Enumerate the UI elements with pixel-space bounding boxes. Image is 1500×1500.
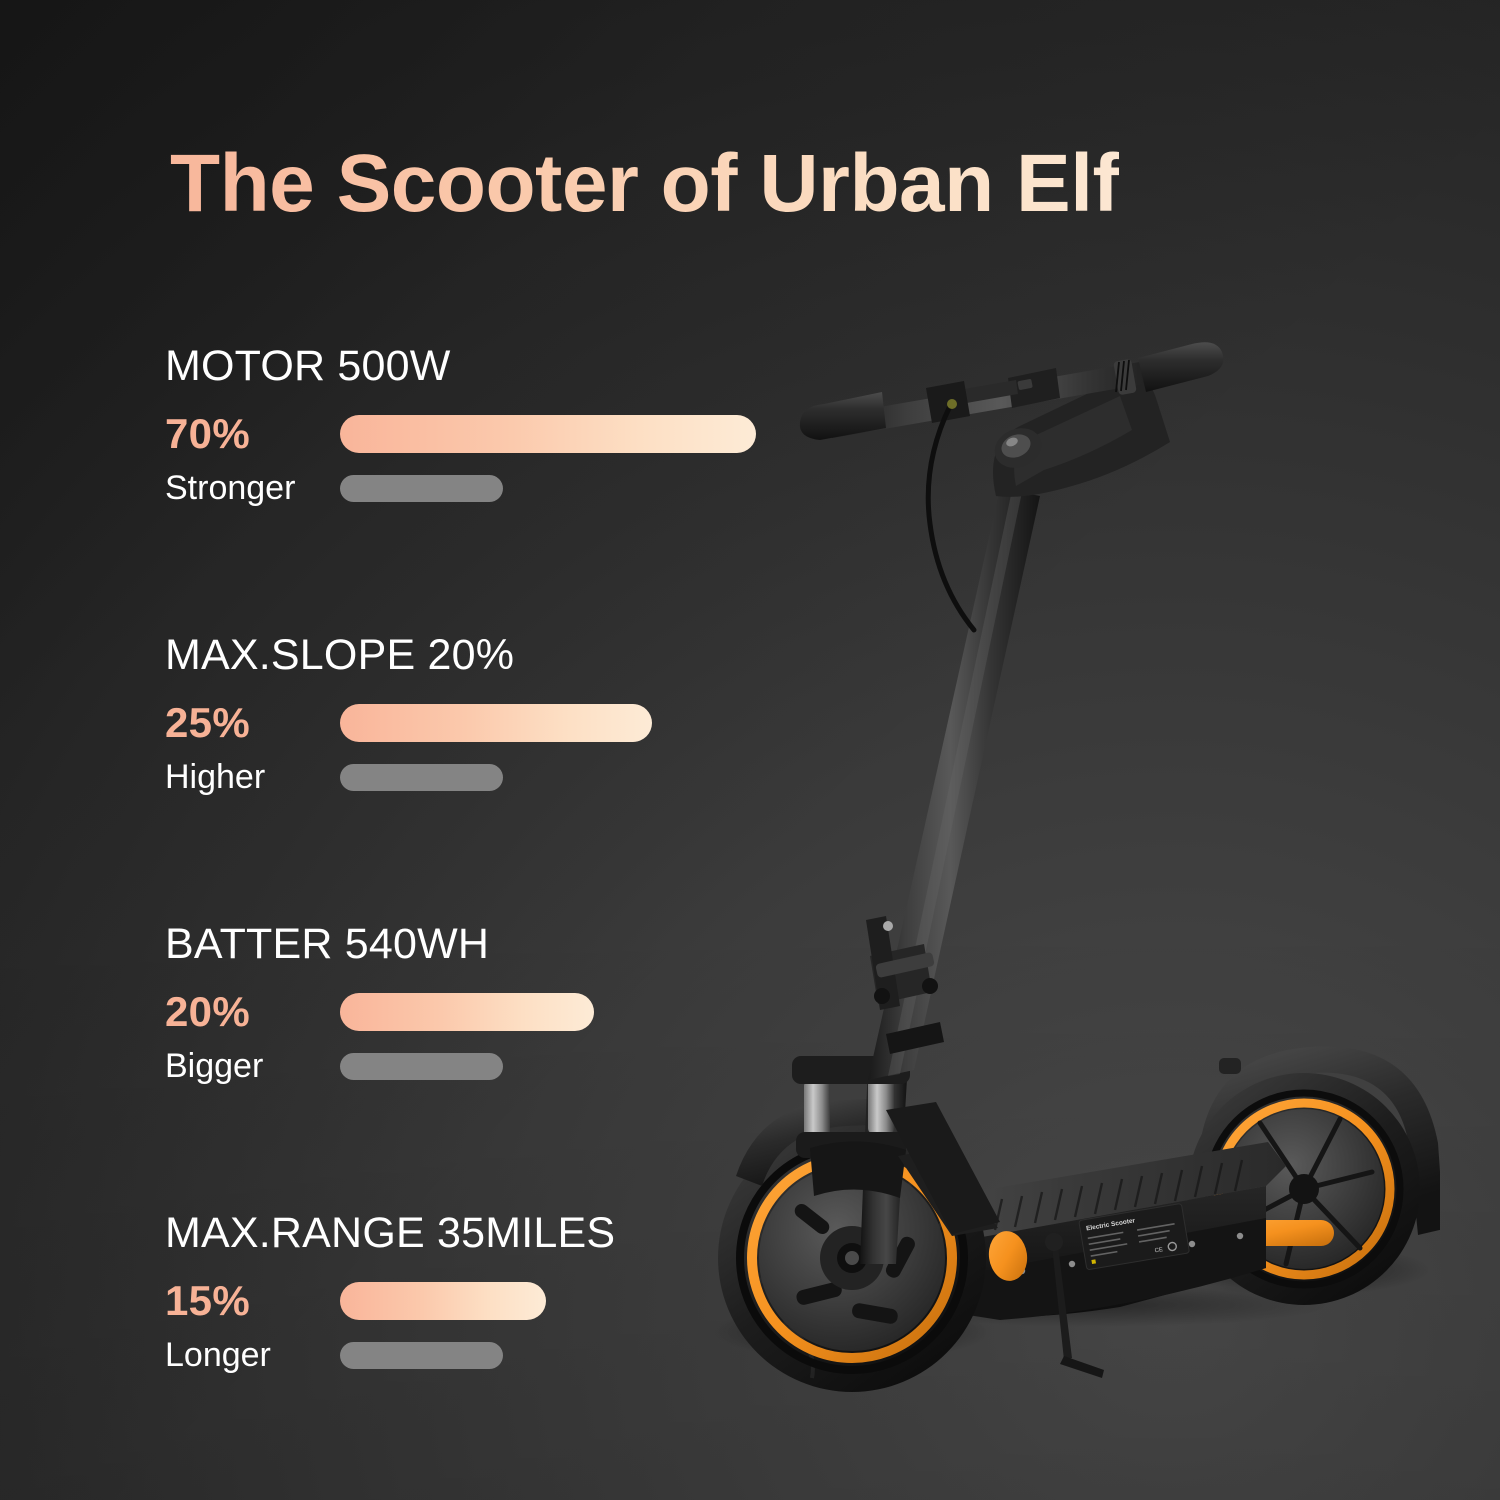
- stat-progress-bar: [340, 415, 756, 453]
- product-infographic: The Scooter of Urban Elf MOTOR 500W 70% …: [0, 0, 1500, 1500]
- page-title: The Scooter of Urban Elf: [170, 137, 1119, 231]
- stat-sub-label: Stronger: [165, 471, 340, 505]
- stat-percent: 20%: [165, 991, 340, 1033]
- stat-sub-label: Higher: [165, 760, 340, 794]
- rear-fender-clip: [1219, 1058, 1241, 1074]
- clamp-bolt-left: [874, 988, 890, 1004]
- stat-percent: 25%: [165, 702, 340, 744]
- stat-progress-bar: [340, 1282, 546, 1320]
- kickstand-pivot: [1045, 1233, 1063, 1251]
- stat-baseline-bar: [340, 1053, 503, 1080]
- cable-anchor: [947, 399, 957, 409]
- stat-sub-label: Bigger: [165, 1049, 340, 1083]
- clamp-bolt-right: [922, 978, 938, 994]
- front-fork-crown: [810, 1141, 906, 1198]
- front-axle-bolt: [845, 1251, 859, 1265]
- stat-baseline-bar: [340, 764, 503, 791]
- rear-axle: [1289, 1174, 1319, 1204]
- stat-baseline-bar: [340, 1342, 503, 1369]
- brake-cable: [928, 406, 974, 630]
- stat-percent: 70%: [165, 413, 340, 455]
- right-grip: [1138, 342, 1223, 392]
- stat-baseline-bar: [340, 475, 503, 502]
- clamp-pin: [883, 921, 893, 931]
- electric-scooter-image: Electric Scooter CE: [700, 320, 1440, 1400]
- kickstand-foot: [1060, 1356, 1104, 1378]
- left-grip: [800, 392, 886, 440]
- stat-progress-bar: [340, 704, 652, 742]
- stat-percent: 15%: [165, 1280, 340, 1322]
- stat-progress-bar: [340, 993, 594, 1031]
- stat-sub-label: Longer: [165, 1338, 340, 1372]
